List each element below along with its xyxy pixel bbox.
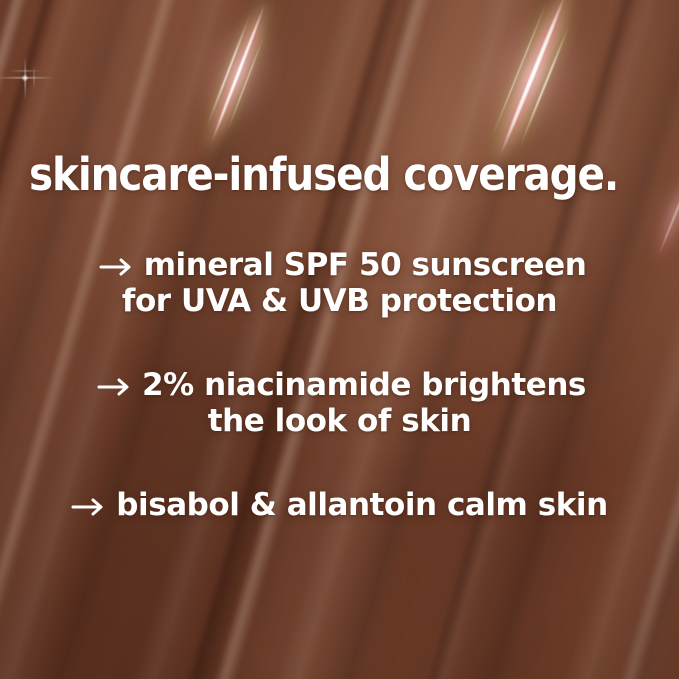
- benefit-line: bisabol & allantoin calm skin: [0, 487, 679, 523]
- benefit-line: 2% niacinamide brightens: [0, 367, 679, 403]
- benefit-text: mineral SPF 50 sunscreen: [144, 247, 587, 283]
- benefit-text: 2% niacinamide brightens: [142, 367, 586, 403]
- benefit-line: mineral SPF 50 sunscreen: [0, 247, 679, 283]
- benefit-line: for UVA & UVB protection: [0, 283, 679, 319]
- benefit-item: mineral SPF 50 sunscreen for UVA & UVB p…: [0, 247, 679, 319]
- arrow-right-icon: [99, 257, 133, 277]
- arrow-right-icon: [97, 377, 131, 397]
- benefit-line: the look of skin: [0, 403, 679, 439]
- product-benefits-poster: skincare-infused coverage. mineral SPF 5…: [0, 0, 679, 679]
- page-title: skincare-infused coverage.: [29, 152, 618, 197]
- arrow-right-icon: [71, 497, 105, 517]
- benefit-item: 2% niacinamide brightens the look of ski…: [0, 367, 679, 439]
- benefit-item: bisabol & allantoin calm skin: [0, 487, 679, 523]
- benefit-text: the look of skin: [208, 403, 471, 439]
- benefit-text: for UVA & UVB protection: [122, 283, 557, 319]
- benefit-text: bisabol & allantoin calm skin: [116, 487, 607, 523]
- poster-copy: skincare-infused coverage. mineral SPF 5…: [0, 0, 679, 679]
